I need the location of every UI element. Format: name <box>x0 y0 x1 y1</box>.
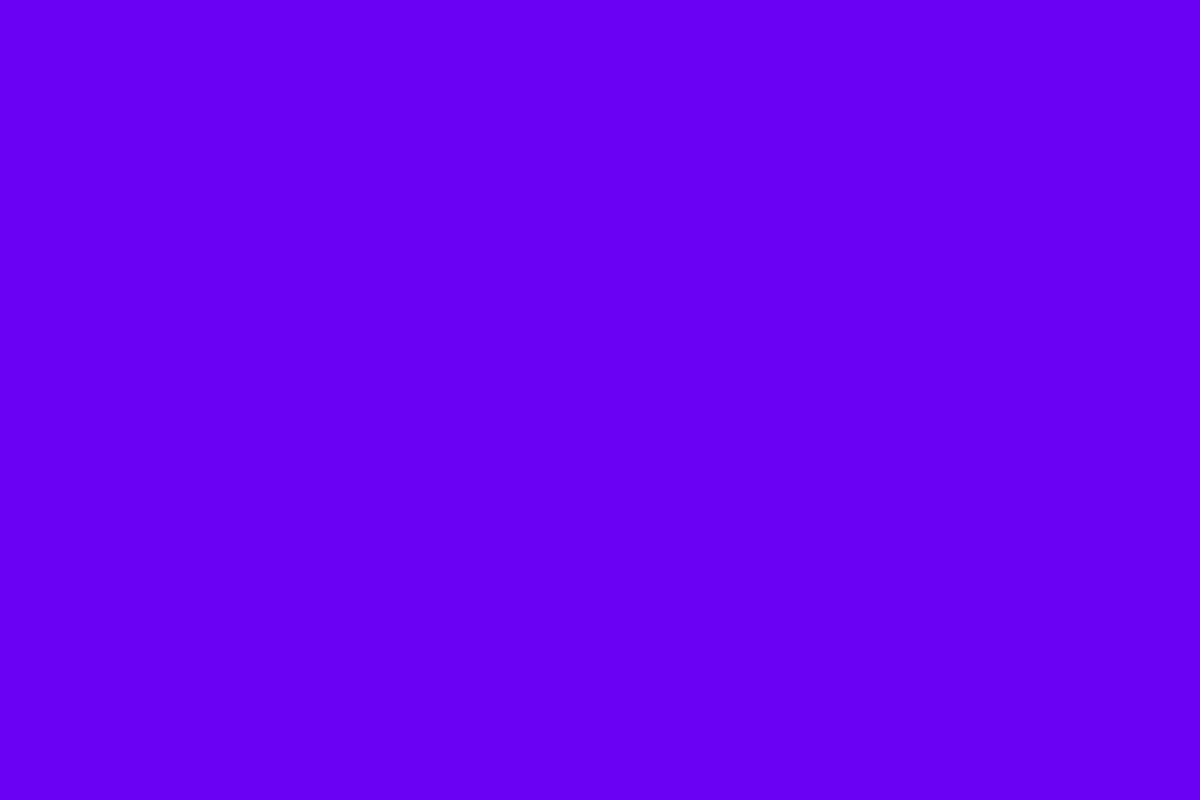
banner-canvas: 해외직구 개인통관고유부호 발급 전용 사이트 개설 <box>0 0 1200 800</box>
